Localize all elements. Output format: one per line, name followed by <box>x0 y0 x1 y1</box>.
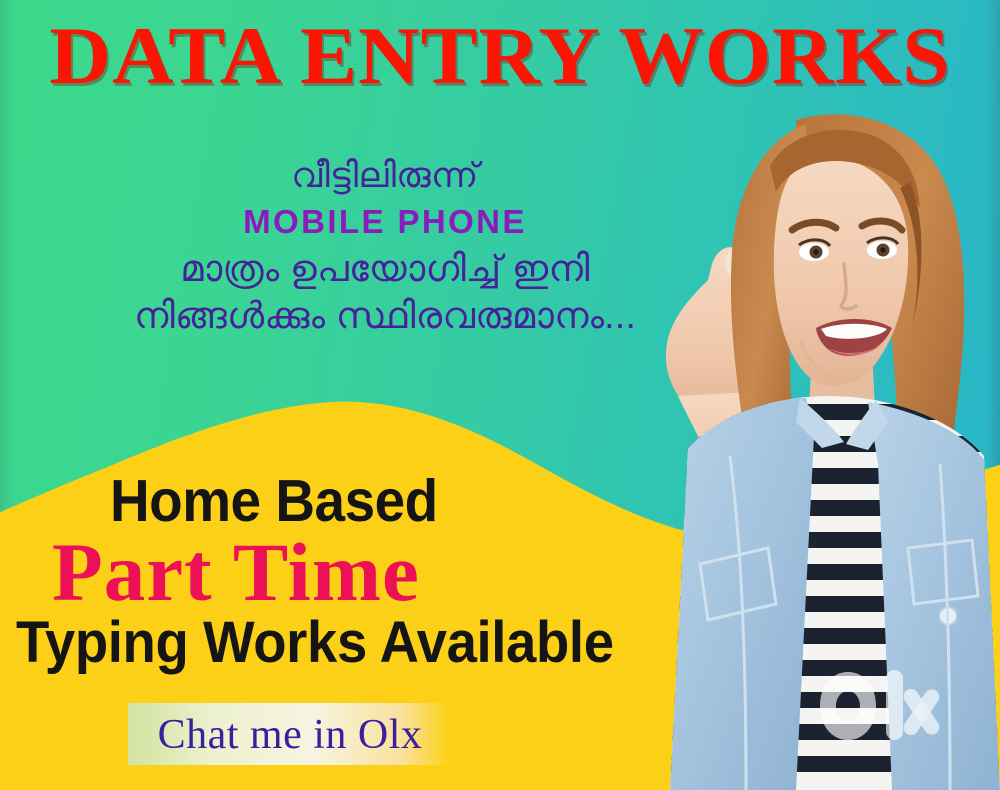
typing-works-available-label: Typing Works Available <box>16 612 614 674</box>
malayalam-message-block: വീട്ടിലിരുന്ന് MOBILE PHONE മാത്രം ഉപയോഗ… <box>40 152 730 339</box>
home-based-label: Home Based <box>110 470 438 532</box>
mobile-phone-highlight: MOBILE PHONE <box>40 199 730 245</box>
chat-me-in-olx-label: Chat me in Olx <box>132 713 448 757</box>
malayalam-line-4: നിങ്ങൾക്കും സ്ഥിരവരുമാനം... <box>40 292 730 339</box>
advertisement-poster: DATA ENTRY WORKS വീട്ടിലിരുന്ന് MOBILE P… <box>0 0 1000 790</box>
malayalam-line-3: മാത്രം ഉപയോഗിച്ച് ഇനി <box>40 245 730 292</box>
left-edge-seam <box>0 0 14 790</box>
malayalam-line-1: വീട്ടിലിരുന്ന് <box>40 152 730 199</box>
part-time-label: Part Time <box>52 528 420 616</box>
page-title: DATA ENTRY WORKS <box>0 14 1000 98</box>
